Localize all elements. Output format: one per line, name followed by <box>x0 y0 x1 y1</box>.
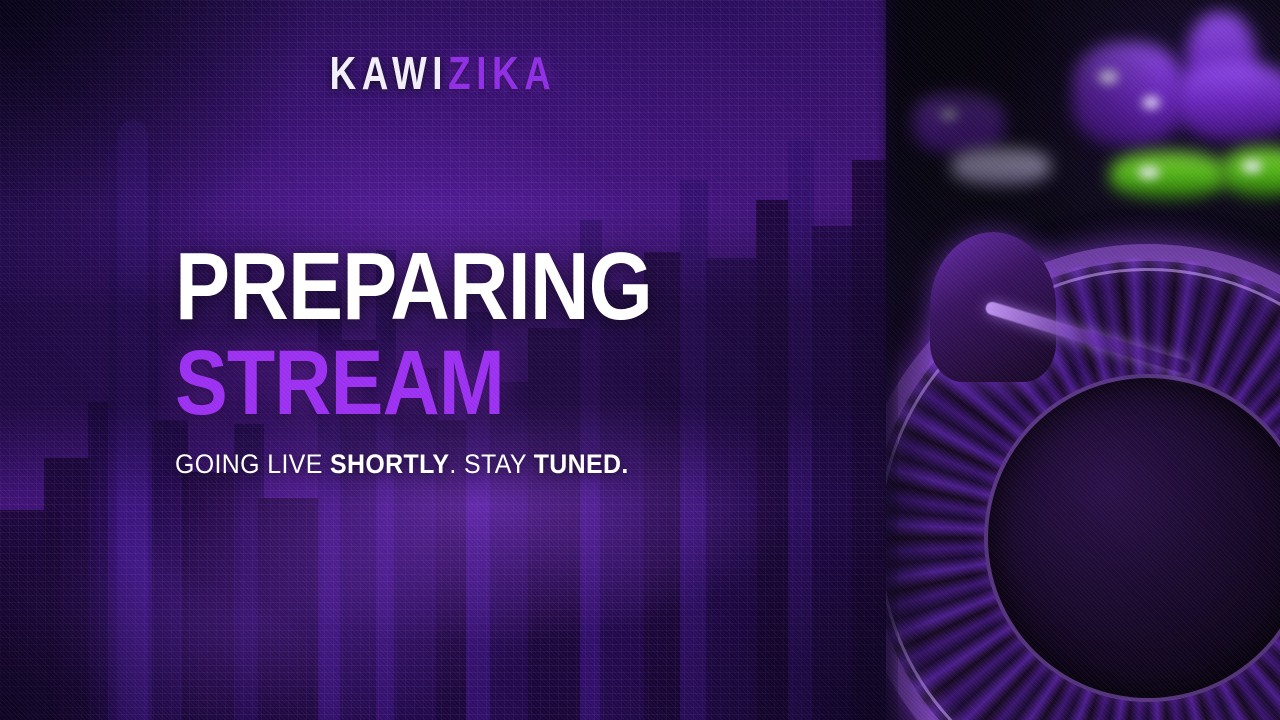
chip-highlight-2 <box>1142 96 1160 109</box>
headline-line-1: PREPARING <box>175 244 777 330</box>
subline-part-5: . <box>621 449 628 479</box>
headline-line-2: STREAM <box>175 342 777 425</box>
subline: GOING LIVE SHORTLY. STAY TUNED. <box>175 449 833 480</box>
logo-primary-text: KAWI <box>330 47 448 99</box>
subline-part-3: . STAY <box>449 449 533 479</box>
chip-highlight-3 <box>1138 166 1160 179</box>
left-city-panel: KAWIZIKA PREPARING STREAM GOING LIVE SHO… <box>0 0 886 720</box>
headline-block: PREPARING STREAM GOING LIVE SHORTLY. STA… <box>175 244 875 480</box>
chip-stack-purple-1 <box>912 92 1004 154</box>
logo-accent-text: ZIKA <box>448 47 556 99</box>
subline-part-4: TUNED <box>534 449 622 479</box>
chip-stack-white <box>952 148 1050 184</box>
chip-stack-purple-4 <box>1176 62 1280 140</box>
right-roulette-panel <box>886 0 1280 720</box>
chip-highlight-4 <box>1242 160 1262 173</box>
chip-highlight-5 <box>940 108 958 120</box>
brand-logo: KAWIZIKA <box>89 50 798 96</box>
chip-stack-green-1 <box>1110 152 1226 198</box>
chip-highlight-1 <box>1098 70 1118 84</box>
roulette-wheel <box>886 258 1280 720</box>
stream-starting-soon-overlay: KAWIZIKA PREPARING STREAM GOING LIVE SHO… <box>0 0 1280 720</box>
subline-part-1: GOING LIVE <box>175 449 330 479</box>
subline-part-2: SHORTLY <box>330 449 449 479</box>
chip-stack-purple-2 <box>1072 42 1184 146</box>
